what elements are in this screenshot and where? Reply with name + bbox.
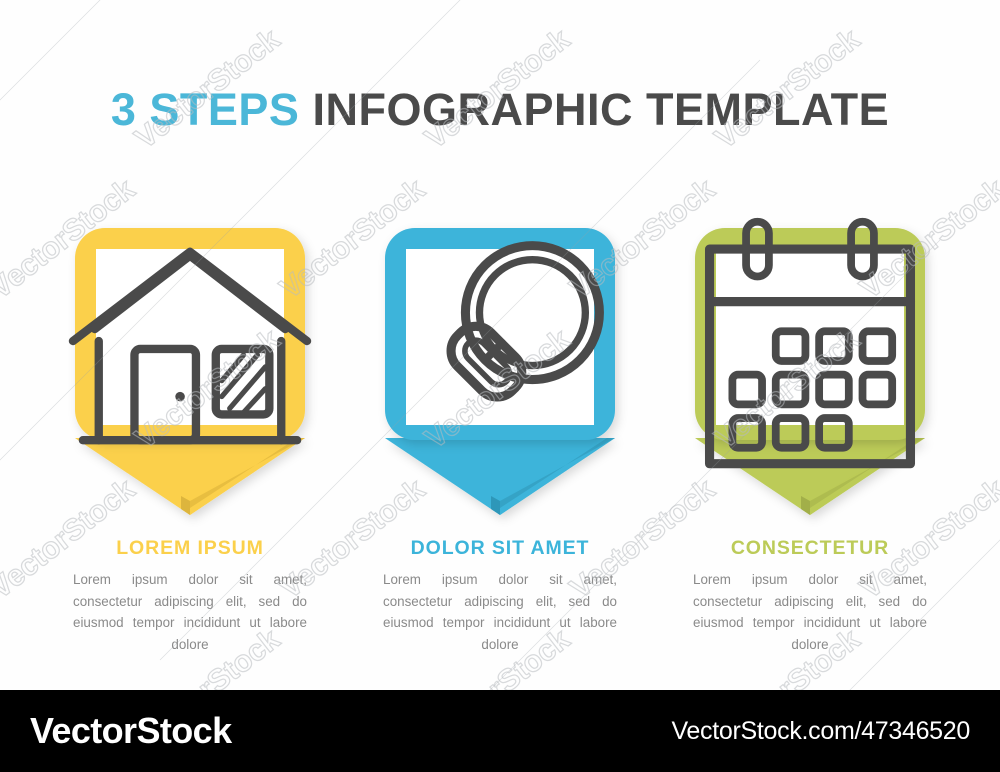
step-body-3: Lorem ipsum dolor sit amet, consectetur … [693,569,927,656]
footer-url: VectorStock.com/47346520 [671,717,970,746]
step-marker-3[interactable] [689,225,931,515]
footer-brand: VectorStock [30,710,232,752]
step-heading-3: CONSECTETUR [693,537,927,560]
page-title-rest: INFOGRAPHIC TEMPLATE [299,84,889,135]
steps-container: LOREM IPSUM Lorem ipsum dolor sit amet, … [0,225,1000,656]
step-body-1: Lorem ipsum dolor sit amet, consectetur … [73,569,307,656]
step-icon-2 [379,265,621,425]
step-marker-2[interactable] [379,225,621,515]
step-text-2: DOLOR SIT AMET Lorem ipsum dolor sit ame… [379,537,621,656]
page-title: 3 STEPS INFOGRAPHIC TEMPLATE [0,84,1000,136]
step-column-1: LOREM IPSUM Lorem ipsum dolor sit amet, … [69,225,311,656]
step-heading-2: DOLOR SIT AMET [383,537,617,560]
step-column-3: CONSECTETUR Lorem ipsum dolor sit amet, … [689,225,931,656]
step-body-2: Lorem ipsum dolor sit amet, consectetur … [383,569,617,656]
step-text-1: LOREM IPSUM Lorem ipsum dolor sit amet, … [69,537,311,656]
vectorstock-footer: VectorStock VectorStock.com/47346520 [0,690,1000,772]
step-column-2: DOLOR SIT AMET Lorem ipsum dolor sit ame… [379,225,621,656]
step-icon-3 [689,265,931,425]
step-text-3: CONSECTETUR Lorem ipsum dolor sit amet, … [689,537,931,656]
step-heading-1: LOREM IPSUM [73,537,307,560]
step-icon-1 [69,265,311,425]
step-marker-1[interactable] [69,225,311,515]
page-title-accent: 3 STEPS [111,84,300,135]
